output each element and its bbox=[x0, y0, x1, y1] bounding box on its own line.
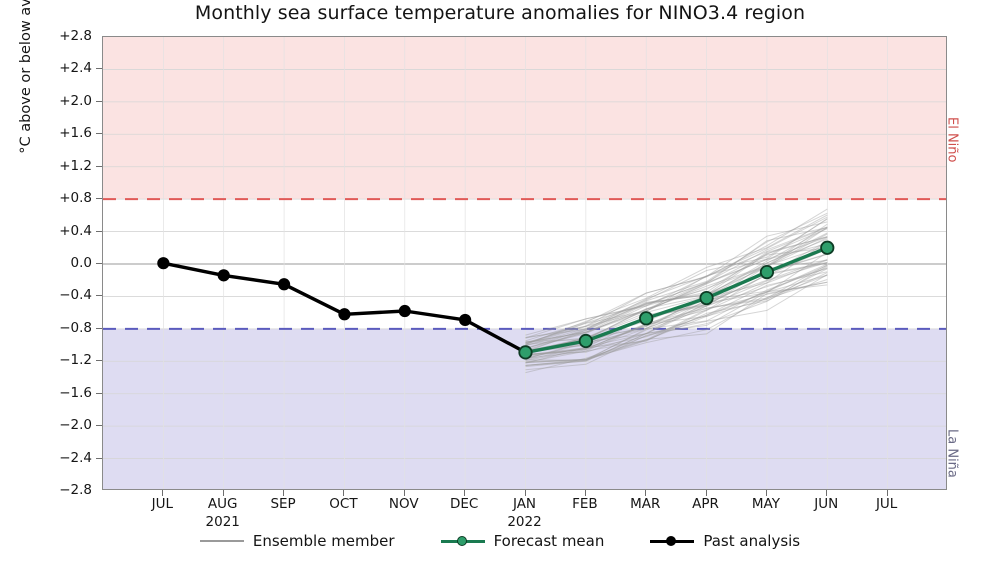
y-tick-label: −2.4 bbox=[22, 450, 92, 466]
legend-item[interactable]: Past analysis bbox=[650, 532, 800, 550]
x-tick-year-label: 2021 bbox=[183, 514, 263, 530]
y-tick-label: +0.8 bbox=[22, 190, 92, 206]
legend-swatch-icon bbox=[650, 533, 694, 549]
ensemble-member-line bbox=[526, 260, 828, 352]
past-analysis-point bbox=[158, 258, 169, 269]
forecast-mean-point bbox=[821, 242, 833, 254]
plot-area bbox=[102, 36, 947, 490]
past-analysis-point bbox=[218, 270, 229, 281]
forecast-mean-point bbox=[640, 312, 652, 324]
y-tick-label: +0.4 bbox=[22, 223, 92, 239]
legend-swatch-icon bbox=[200, 533, 244, 549]
y-tick-label: +2.4 bbox=[22, 60, 92, 76]
ensemble-members bbox=[526, 209, 828, 373]
y-tick-label: +2.8 bbox=[22, 28, 92, 44]
forecast-mean-point bbox=[519, 346, 531, 358]
y-tick-label: −1.6 bbox=[22, 385, 92, 401]
y-tick-label: +2.0 bbox=[22, 93, 92, 109]
chart-legend: Ensemble memberForecast meanPast analysi… bbox=[0, 532, 1000, 550]
legend-label: Ensemble member bbox=[253, 532, 395, 550]
forecast-mean-point bbox=[700, 292, 712, 304]
legend-item[interactable]: Ensemble member bbox=[200, 532, 395, 550]
page-title: Monthly sea surface temperature anomalie… bbox=[0, 2, 1000, 24]
el-nino-side-label: El Niño bbox=[945, 117, 960, 163]
past-analysis-point bbox=[278, 279, 289, 290]
past-analysis-point bbox=[339, 309, 350, 320]
plot-svg bbox=[103, 37, 947, 490]
past-to-forecast-connector bbox=[465, 320, 525, 353]
y-tick-label: −1.2 bbox=[22, 352, 92, 368]
chart-root: Monthly sea surface temperature anomalie… bbox=[0, 0, 1000, 570]
x-tick-label: JUL bbox=[847, 496, 927, 512]
legend-item[interactable]: Forecast mean bbox=[441, 532, 605, 550]
legend-label: Past analysis bbox=[703, 532, 800, 550]
past-analysis-line bbox=[163, 263, 465, 320]
y-tick-label: −2.8 bbox=[22, 482, 92, 498]
past-analysis-point bbox=[399, 305, 410, 316]
y-tick-label: −0.8 bbox=[22, 320, 92, 336]
forecast-mean-point bbox=[580, 335, 592, 347]
la-nina-side-label: La Niña bbox=[945, 429, 960, 478]
legend-swatch-icon bbox=[441, 533, 485, 549]
y-tick-label: 0.0 bbox=[22, 255, 92, 271]
y-axis-label-text: °C above or below average bbox=[18, 0, 34, 170]
forecast-mean-point bbox=[761, 266, 773, 278]
y-tick-label: +1.2 bbox=[22, 158, 92, 174]
y-tick-label: −2.0 bbox=[22, 417, 92, 433]
x-tick-year-label: 2022 bbox=[485, 514, 565, 530]
legend-label: Forecast mean bbox=[494, 532, 605, 550]
y-tick-label: +1.6 bbox=[22, 125, 92, 141]
y-tick-label: −0.4 bbox=[22, 287, 92, 303]
past-analysis-point bbox=[460, 314, 471, 325]
